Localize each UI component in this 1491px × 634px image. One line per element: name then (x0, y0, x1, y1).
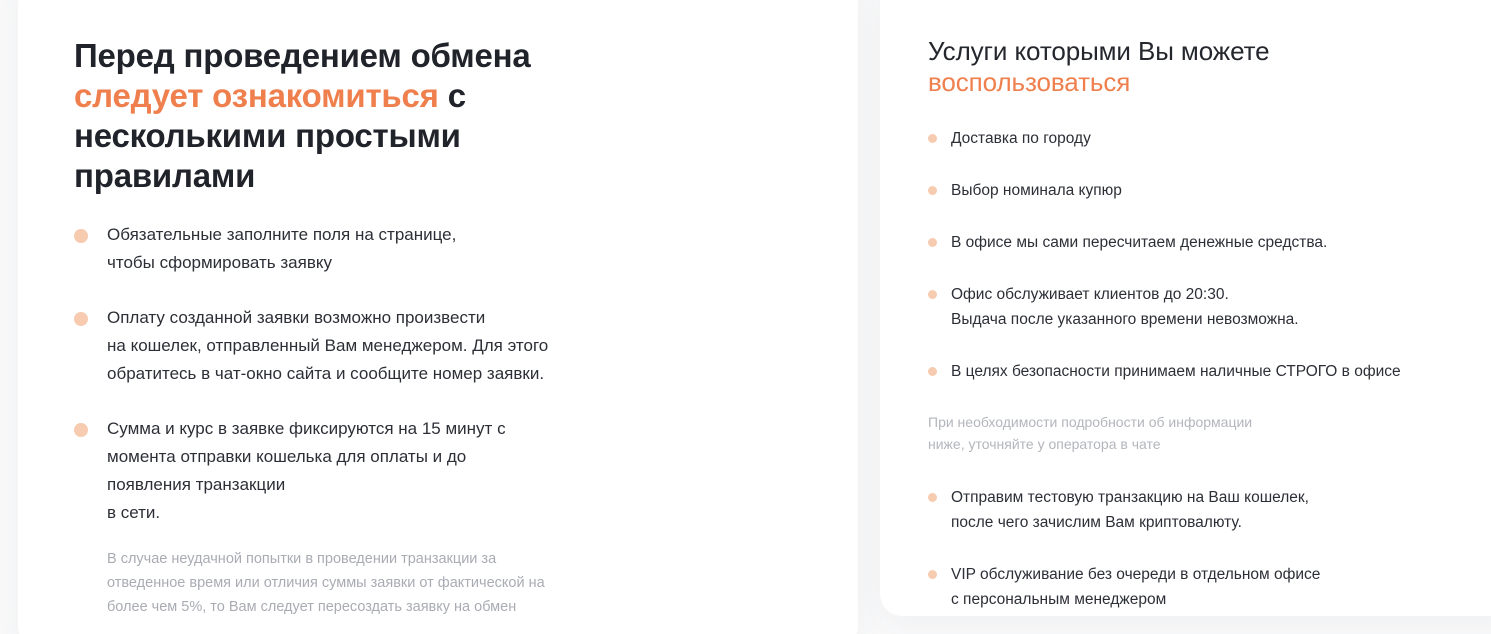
left-title-line-1: Перед проведением обмена (74, 36, 634, 76)
list-item: В целях безопасности принимаем наличные … (928, 359, 1458, 384)
list-item-line: Выдача после указанного времени невозмож… (951, 307, 1458, 332)
list-item-line: Отправим тестовую транзакцию на Ваш коше… (951, 485, 1458, 510)
list-item-line: Сумма и курс в заявке фиксируются на 15 … (107, 415, 774, 443)
list-item-line: на кошелек, отправленный Вам менеджером.… (107, 332, 774, 360)
left-panel-title: Перед проведением обмена следует ознаком… (74, 36, 634, 196)
right-panel-note: При необходимости подробности об информа… (928, 411, 1458, 455)
note-line: В случае неудачной попытки в проведении … (107, 547, 647, 571)
note-line: отведенное время или отличия суммы заявк… (107, 571, 647, 595)
bullet-dot-icon (74, 423, 88, 437)
list-item: Обязательные заполните поля на странице,… (74, 221, 774, 277)
list-item-line: В офисе мы сами пересчитаем денежные сре… (951, 230, 1458, 255)
page-root: Перед проведением обмена следует ознаком… (0, 0, 1491, 634)
list-item-line: В целях безопасности принимаем наличные … (951, 359, 1458, 384)
right-panel: Услуги которыми Вы можете воспользоватьс… (928, 36, 1458, 634)
list-item-line: с персональным менеджером (951, 587, 1458, 612)
list-item: Отправим тестовую транзакцию на Ваш коше… (928, 485, 1458, 535)
bullet-dot-icon (928, 134, 937, 143)
list-item: VIP обслуживание без очереди в отдельном… (928, 562, 1458, 612)
list-item-line: чтобы сформировать заявку (107, 249, 774, 277)
bullet-dot-icon (928, 238, 937, 247)
left-title-line-4: правилами (74, 156, 634, 196)
left-panel-note: В случае неудачной попытки в проведении … (107, 547, 647, 619)
bullet-dot-icon (928, 367, 937, 376)
list-item-line: Оплату созданной заявки возможно произве… (107, 304, 774, 332)
list-item: Оплату созданной заявки возможно произве… (74, 304, 774, 388)
list-item: Выбор номинала купюр (928, 178, 1458, 203)
bullet-dot-icon (928, 570, 937, 579)
bullet-dot-icon (928, 493, 937, 502)
list-item-line: Доставка по городу (951, 126, 1458, 151)
right-title-accent: воспользоваться (928, 67, 1458, 98)
note-line: более чем 5%, то Вам следует пересоздать… (107, 595, 647, 619)
note-line: При необходимости подробности об информа… (928, 411, 1458, 433)
bullet-dot-icon (928, 186, 937, 195)
list-item-line: появления транзакции (107, 471, 774, 499)
left-title-suffix: с (439, 77, 466, 114)
list-item: В офисе мы сами пересчитаем денежные сре… (928, 230, 1458, 255)
right-services-list-secondary: Отправим тестовую транзакцию на Ваш коше… (928, 485, 1458, 612)
left-title-line-2: следует ознакомиться с (74, 76, 634, 116)
list-item-line: момента отправки кошелька для оплаты и д… (107, 443, 774, 471)
right-title-line-1: Услуги которыми Вы можете (928, 36, 1458, 67)
list-item-line: Обязательные заполните поля на странице, (107, 221, 774, 249)
list-item-line: после чего зачислим Вам криптовалюту. (951, 510, 1458, 535)
list-item: Доставка по городу (928, 126, 1458, 151)
list-item: Сумма и курс в заявке фиксируются на 15 … (74, 415, 774, 527)
note-line: ниже, уточняйте у оператора в чате (928, 433, 1458, 455)
left-rules-list: Обязательные заполните поля на странице,… (74, 221, 774, 527)
bullet-dot-icon (74, 229, 88, 243)
right-panel-title: Услуги которыми Вы можете воспользоватьс… (928, 36, 1458, 98)
left-title-accent: следует ознакомиться (74, 77, 439, 114)
list-item-line: в сети. (107, 499, 774, 527)
bullet-dot-icon (928, 290, 937, 299)
list-item-line: Выбор номинала купюр (951, 178, 1458, 203)
list-item: Офис обслуживает клиентов до 20:30. Выда… (928, 282, 1458, 332)
list-item-line: VIP обслуживание без очереди в отдельном… (951, 562, 1458, 587)
left-panel: Перед проведением обмена следует ознаком… (74, 36, 774, 619)
list-item-line: Офис обслуживает клиентов до 20:30. (951, 282, 1458, 307)
list-item-line: обратитесь в чат-окно сайта и сообщите н… (107, 360, 774, 388)
left-title-line-3: несколькими простыми (74, 116, 634, 156)
bullet-dot-icon (74, 312, 88, 326)
right-services-list: Доставка по городу Выбор номинала купюр … (928, 126, 1458, 384)
